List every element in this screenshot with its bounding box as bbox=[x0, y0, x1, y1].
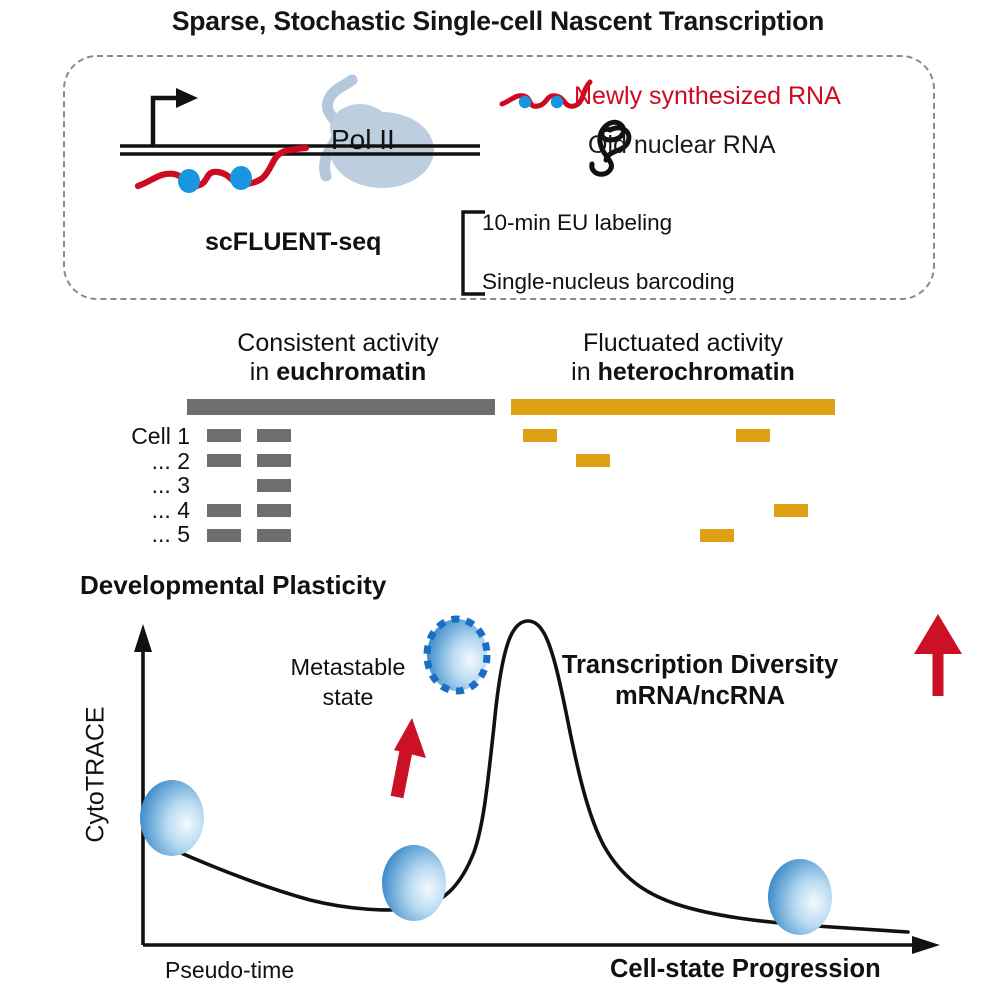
euchromatin-activity-tick bbox=[207, 429, 241, 442]
cell-row-label: ... 3 bbox=[100, 473, 190, 498]
eu-label-mark bbox=[551, 96, 563, 108]
cell-row-labels: Cell 1 ... 2 ... 3 ... 4 ... 5 bbox=[100, 424, 190, 547]
pol-ii-label: Pol II bbox=[331, 124, 395, 156]
heterochromatin-activity-tick bbox=[774, 504, 808, 517]
cell-row-label: ... 4 bbox=[100, 498, 190, 523]
diversity-label-line2: mRNA/ncRNA bbox=[615, 682, 785, 710]
heterochromatin-heading-strong: heterochromatin bbox=[598, 358, 795, 386]
euchromatin-heading-line1: Consistent activity bbox=[237, 329, 438, 357]
diversity-label-line1: Transcription Diversity bbox=[562, 651, 838, 679]
y-axis-label: CytoTRACE bbox=[82, 675, 111, 875]
euchromatin-activity-tick bbox=[257, 479, 291, 492]
euchromatin-activity-tick bbox=[207, 504, 241, 517]
metastable-label-line1: Metastable bbox=[291, 654, 406, 680]
bracket-item-barcoding: Single-nucleus barcoding bbox=[482, 269, 735, 295]
page-title: Sparse, Stochastic Single-cell Nascent T… bbox=[0, 6, 996, 37]
heterochromatin-heading-prefix: in bbox=[571, 358, 597, 386]
bracket-item-eu-labeling: 10-min EU labeling bbox=[482, 210, 672, 236]
euchromatin-activity-tick bbox=[257, 429, 291, 442]
x-axis-label: Pseudo-time bbox=[165, 957, 294, 984]
heterochromatin-activity-tick bbox=[700, 529, 734, 542]
euchromatin-activity-tick bbox=[207, 454, 241, 467]
scfluent-seq-label: scFLUENT-seq bbox=[205, 228, 381, 257]
tss-arrow-stem bbox=[153, 98, 180, 146]
legend-label-newly-synthesized-rna: Newly synthesized RNA bbox=[574, 82, 841, 111]
heterochromatin-activity-tick bbox=[523, 429, 557, 442]
heterochromatin-region-bar bbox=[511, 399, 835, 415]
heterochromatin-heading: Fluctuated activity in heterochromatin bbox=[500, 329, 866, 387]
metastable-label-line2: state bbox=[323, 684, 374, 710]
pol-ii-transcription-diagram bbox=[120, 68, 480, 203]
cell-row-label: Cell 1 bbox=[100, 424, 190, 449]
euchromatin-activity-tick bbox=[257, 454, 291, 467]
euchromatin-activity-tick bbox=[257, 529, 291, 542]
diversity-up-arrow-icon bbox=[914, 614, 962, 696]
cell-sphere-end bbox=[768, 859, 832, 935]
metastable-cell-sphere bbox=[427, 619, 487, 691]
transcription-diversity-label: Transcription Diversity mRNA/ncRNA bbox=[540, 650, 860, 712]
heterochromatin-activity-tick bbox=[736, 429, 770, 442]
metastable-state-label: Metastable state bbox=[278, 652, 418, 712]
euchromatin-heading-strong: euchromatin bbox=[276, 358, 426, 386]
x-axis-arrowhead bbox=[912, 936, 940, 954]
plasticity-up-arrow-icon bbox=[394, 718, 426, 797]
euchromatin-activity-tick bbox=[207, 529, 241, 542]
cell-row-label: ... 5 bbox=[100, 522, 190, 547]
cell-sphere-start bbox=[140, 780, 204, 856]
heterochromatin-heading-line1: Fluctuated activity bbox=[583, 329, 783, 357]
euchromatin-heading: Consistent activity in euchromatin bbox=[178, 329, 498, 387]
eu-label-mark bbox=[178, 169, 200, 193]
tss-arrow-head bbox=[176, 88, 198, 108]
heterochromatin-activity-tick bbox=[576, 454, 610, 467]
cell-sphere-valley bbox=[382, 845, 446, 921]
y-axis-arrowhead bbox=[134, 624, 152, 652]
legend-label-old-nuclear-rna: Old nuclear RNA bbox=[588, 131, 776, 160]
euchromatin-heading-prefix: in bbox=[250, 358, 276, 386]
plasticity-section-title: Developmental Plasticity bbox=[80, 570, 386, 601]
cell-row-label: ... 2 bbox=[100, 449, 190, 474]
eu-label-mark bbox=[519, 96, 531, 108]
euchromatin-region-bar bbox=[187, 399, 495, 415]
eu-label-mark bbox=[230, 166, 252, 190]
euchromatin-activity-tick bbox=[257, 504, 291, 517]
cell-state-progression-label: Cell-state Progression bbox=[610, 955, 881, 984]
